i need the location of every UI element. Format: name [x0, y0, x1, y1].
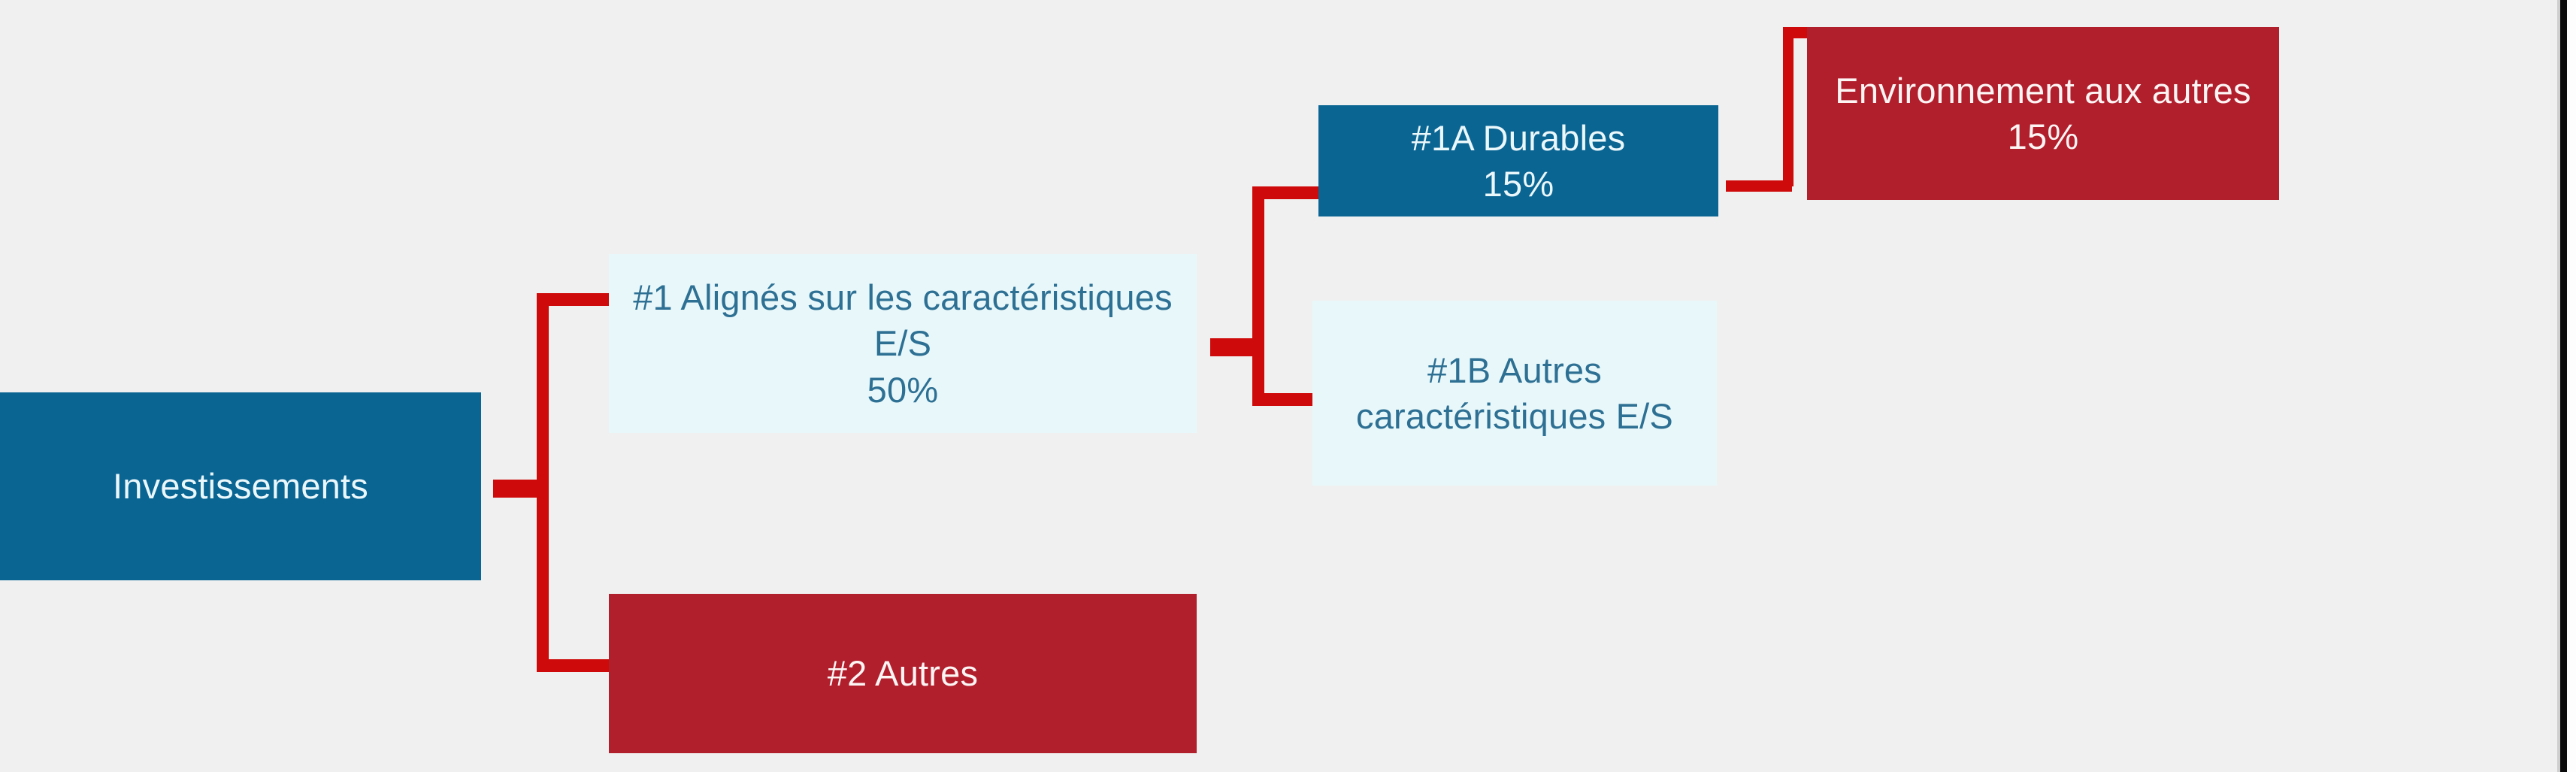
- diagram-canvas: Investissements #1 Alignés sur les carac…: [0, 0, 2576, 772]
- window-edge-dark-bar: [2560, 0, 2567, 772]
- window-edge-light-strip: [2567, 0, 2576, 772]
- connector-root-spine: [537, 293, 549, 672]
- connector-root-to-autres: [537, 659, 609, 672]
- node-environnement-aux-autres[interactable]: Environnement aux autres 15%: [1807, 27, 2279, 200]
- node-investissements[interactable]: Investissements: [0, 392, 481, 580]
- connector-aligned-spine: [1252, 186, 1264, 406]
- node-aligned-es-characteristics[interactable]: #1 Alignés sur les caractéristiques E/S …: [609, 254, 1197, 433]
- connector-aligned-to-durables: [1252, 186, 1320, 199]
- connector-durables-to-environment: [1783, 27, 1810, 38]
- node-other-es-characteristics[interactable]: #1B Autres caractéristiques E/S: [1312, 301, 1717, 486]
- connector-root-to-aligned: [537, 293, 609, 306]
- connector-aligned-to-other-es: [1252, 393, 1314, 406]
- connector-durables-stub: [1726, 180, 1792, 192]
- node-durables[interactable]: #1A Durables 15%: [1318, 105, 1718, 216]
- node-autres[interactable]: #2 Autres: [609, 594, 1197, 753]
- connector-durables-spine: [1783, 27, 1794, 186]
